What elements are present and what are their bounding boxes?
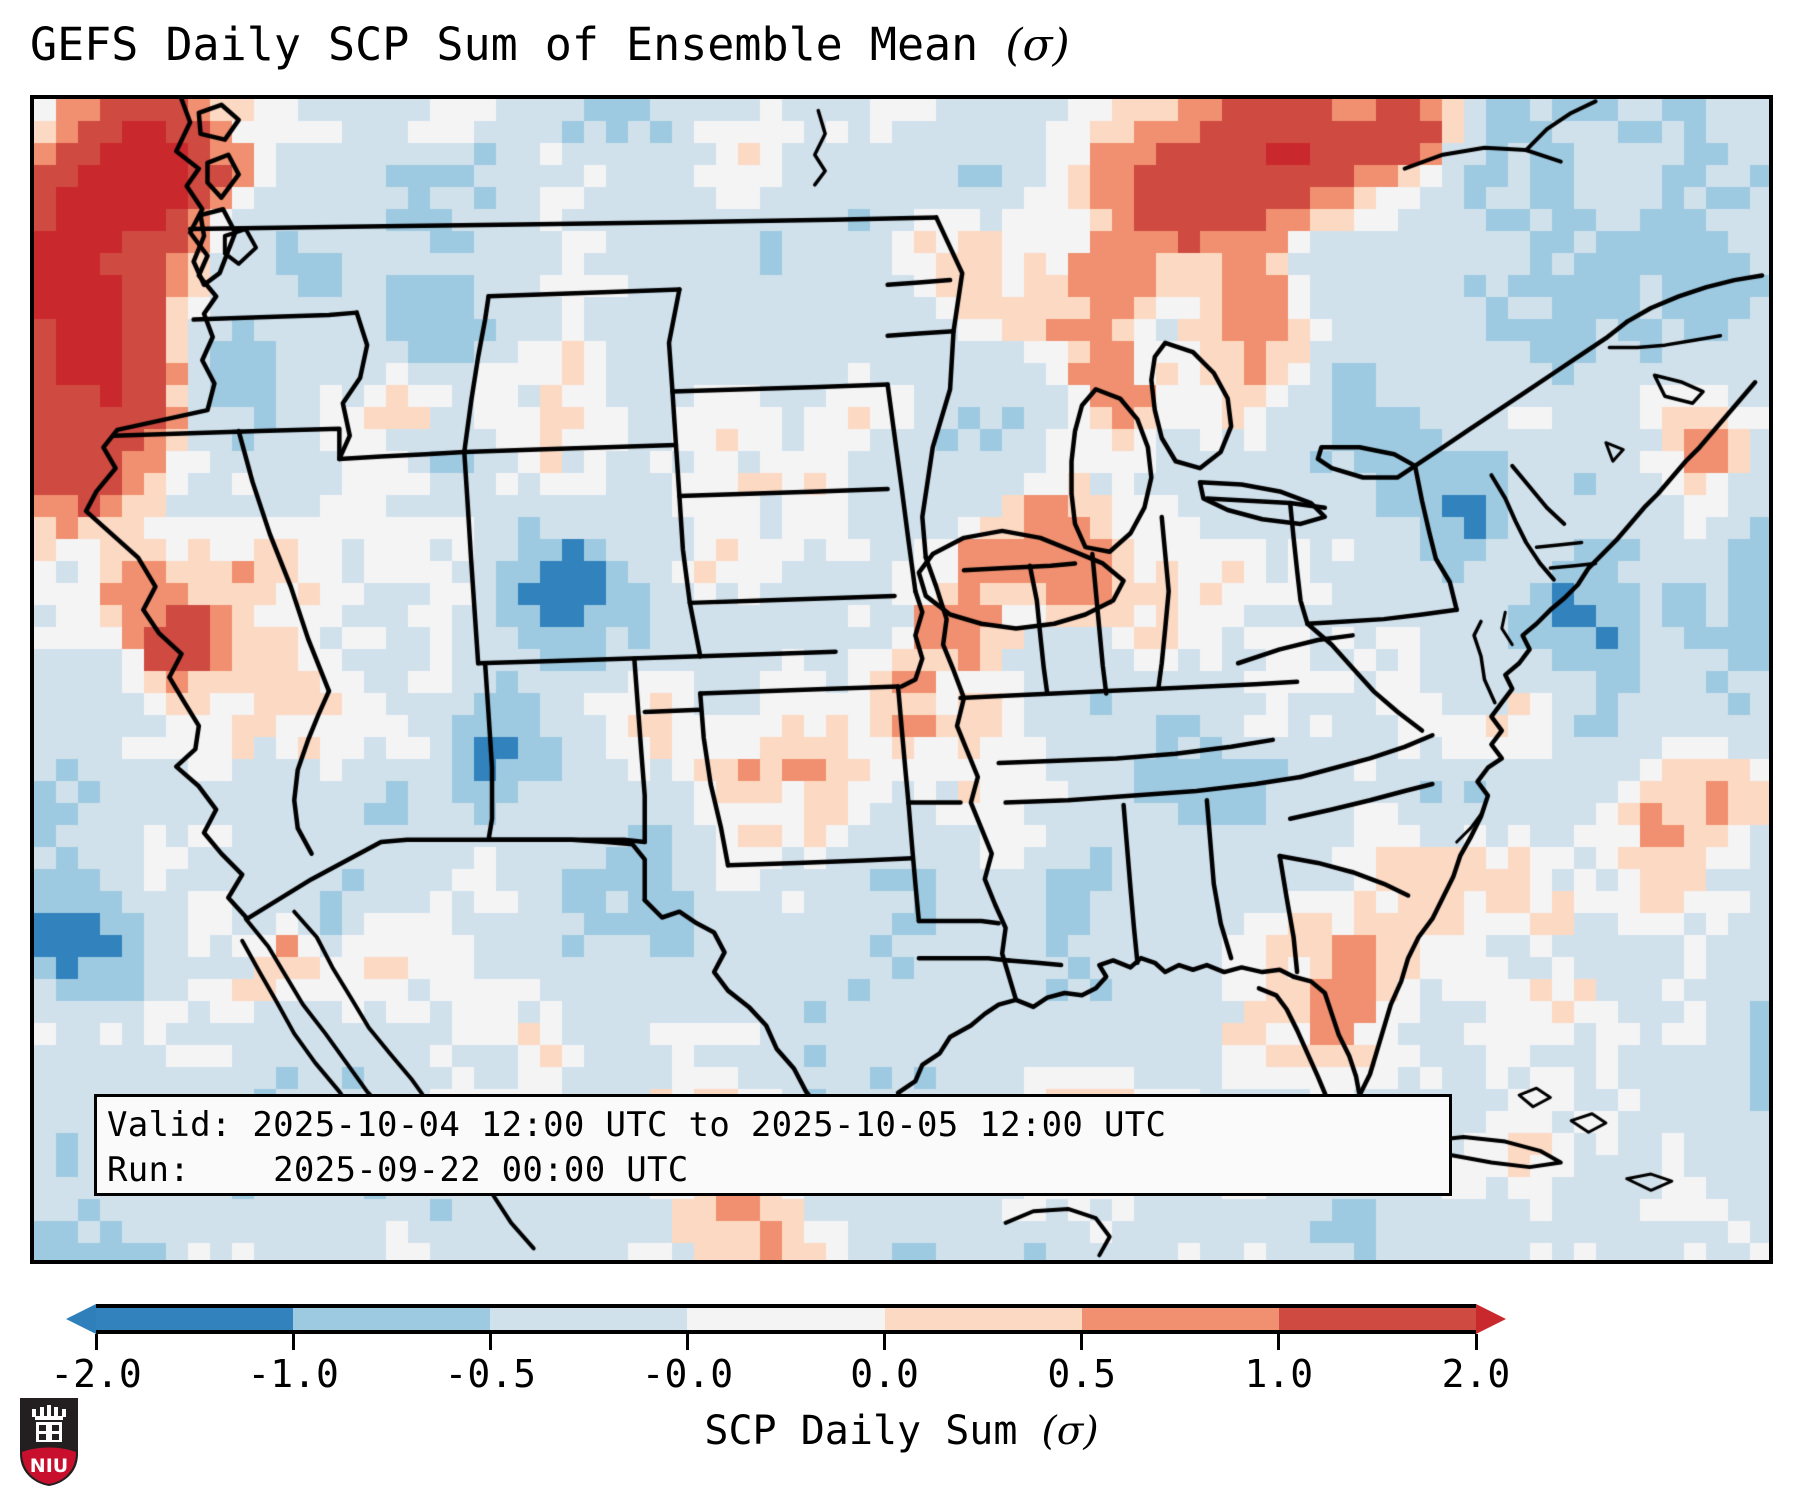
title-unit-open: (	[1005, 20, 1022, 71]
colorbar-label-text: SCP Daily Sum	[704, 1408, 1041, 1454]
page-title: GEFS Daily SCP Sum of Ensemble Mean (σ)	[30, 16, 1530, 74]
heatmap-canvas	[34, 99, 1769, 1260]
colorbar-tick-label-1: -1.0	[247, 1352, 339, 1396]
colorbar-segment-4	[885, 1308, 1082, 1330]
run-time-line: Run: 2025-09-22 00:00 UTC	[107, 1148, 1439, 1193]
sigma-symbol-icon: σ	[1057, 1409, 1084, 1454]
colorbar-segment-2	[490, 1308, 687, 1330]
colorbar-tick-0	[95, 1334, 98, 1350]
colorbar-gradient	[96, 1304, 1476, 1334]
colorbar-unit-close: )	[1083, 1409, 1098, 1454]
colorbar-tick-7	[1475, 1334, 1478, 1350]
colorbar-tick-label-7: 2.0	[1442, 1352, 1511, 1396]
sigma-symbol-icon: σ	[1023, 20, 1053, 71]
colorbar-tick-5	[1080, 1334, 1083, 1350]
colorbar-tick-1	[292, 1334, 295, 1350]
colorbar-tick-4	[883, 1334, 886, 1350]
colorbar-segment-6	[1279, 1308, 1476, 1330]
colorbar-tick-label-4: 0.0	[850, 1352, 919, 1396]
colorbar-segment-3	[687, 1308, 884, 1330]
niu-logo: NIU	[18, 1396, 80, 1488]
colorbar-extend-low-arrow	[66, 1304, 96, 1334]
colorbar-tick-2	[489, 1334, 492, 1350]
figure-canvas: GEFS Daily SCP Sum of Ensemble Mean (σ) …	[0, 0, 1803, 1506]
title-text: GEFS Daily SCP Sum of Ensemble Mean	[30, 18, 1005, 71]
colorbar[interactable]: -2.0-1.0-0.5-0.00.00.51.02.0	[30, 1296, 1773, 1346]
niu-logo-text: NIU	[30, 1455, 68, 1477]
colorbar-tick-3	[686, 1334, 689, 1350]
colorbar-tick-6	[1277, 1334, 1280, 1350]
colorbar-tick-label-2: -0.5	[445, 1352, 537, 1396]
colorbar-tick-label-6: 1.0	[1245, 1352, 1314, 1396]
colorbar-tick-label-0: -2.0	[50, 1352, 142, 1396]
map-plot-area[interactable]: Valid: 2025-10-04 12:00 UTC to 2025-10-0…	[30, 95, 1773, 1264]
colorbar-label: SCP Daily Sum (σ)	[0, 1406, 1803, 1457]
colorbar-segment-1	[293, 1308, 490, 1330]
info-text-box: Valid: 2025-10-04 12:00 UTC to 2025-10-0…	[94, 1094, 1452, 1196]
colorbar-unit-open: (	[1042, 1409, 1057, 1454]
colorbar-segment-0	[96, 1308, 293, 1330]
colorbar-tick-label-3: -0.0	[642, 1352, 734, 1396]
colorbar-extend-high-arrow	[1476, 1304, 1506, 1334]
colorbar-tick-label-5: 0.5	[1047, 1352, 1116, 1396]
colorbar-segment-5	[1082, 1308, 1279, 1330]
title-unit-close: )	[1053, 20, 1070, 71]
valid-time-line: Valid: 2025-10-04 12:00 UTC to 2025-10-0…	[107, 1103, 1439, 1148]
niu-shield-icon: NIU	[18, 1396, 80, 1488]
